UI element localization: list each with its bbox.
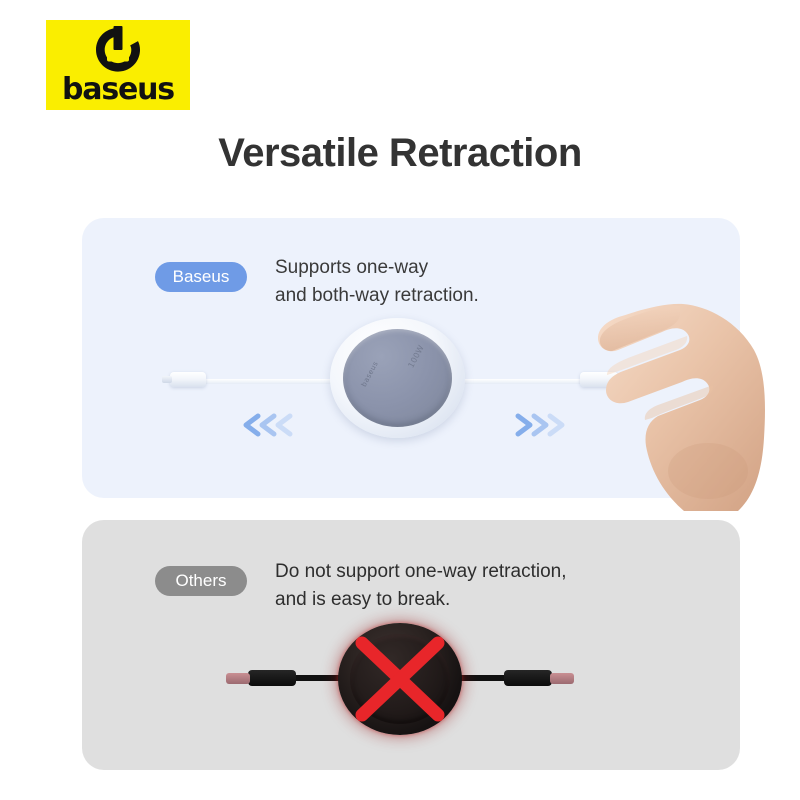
marketing-image: baseus Versatile Retraction Baseus Suppo…	[0, 0, 800, 800]
card-others-clip: Others Do not support one-way retraction…	[82, 520, 740, 770]
triple-chevron-left-icon	[238, 412, 300, 438]
usb-c-connector-black-right	[504, 670, 552, 686]
baseus-g-mark-icon	[92, 26, 144, 74]
red-x-mark-icon	[338, 623, 462, 735]
usb-c-connector-black-left	[248, 670, 296, 686]
page-title: Versatile Retraction	[0, 131, 800, 176]
cable-white-left	[196, 379, 338, 384]
hand-pinching-connector	[588, 296, 766, 511]
connector-tip-left	[226, 673, 250, 684]
brand-wordmark: baseus	[62, 75, 174, 105]
card-others-artwork	[82, 520, 740, 770]
card-baseus: Baseus Supports one-way and both-way ret…	[82, 218, 740, 498]
cable-white-right	[458, 379, 588, 384]
triple-chevron-right-icon	[508, 412, 570, 438]
usb-c-connector-white-left	[170, 372, 206, 387]
card-others: Others Do not support one-way retraction…	[82, 520, 740, 770]
connector-tip-right	[550, 673, 574, 684]
reel-top-disc	[343, 329, 452, 427]
retractable-cable-reel: baseus 100W	[330, 318, 465, 438]
brand-logo: baseus	[46, 20, 190, 110]
